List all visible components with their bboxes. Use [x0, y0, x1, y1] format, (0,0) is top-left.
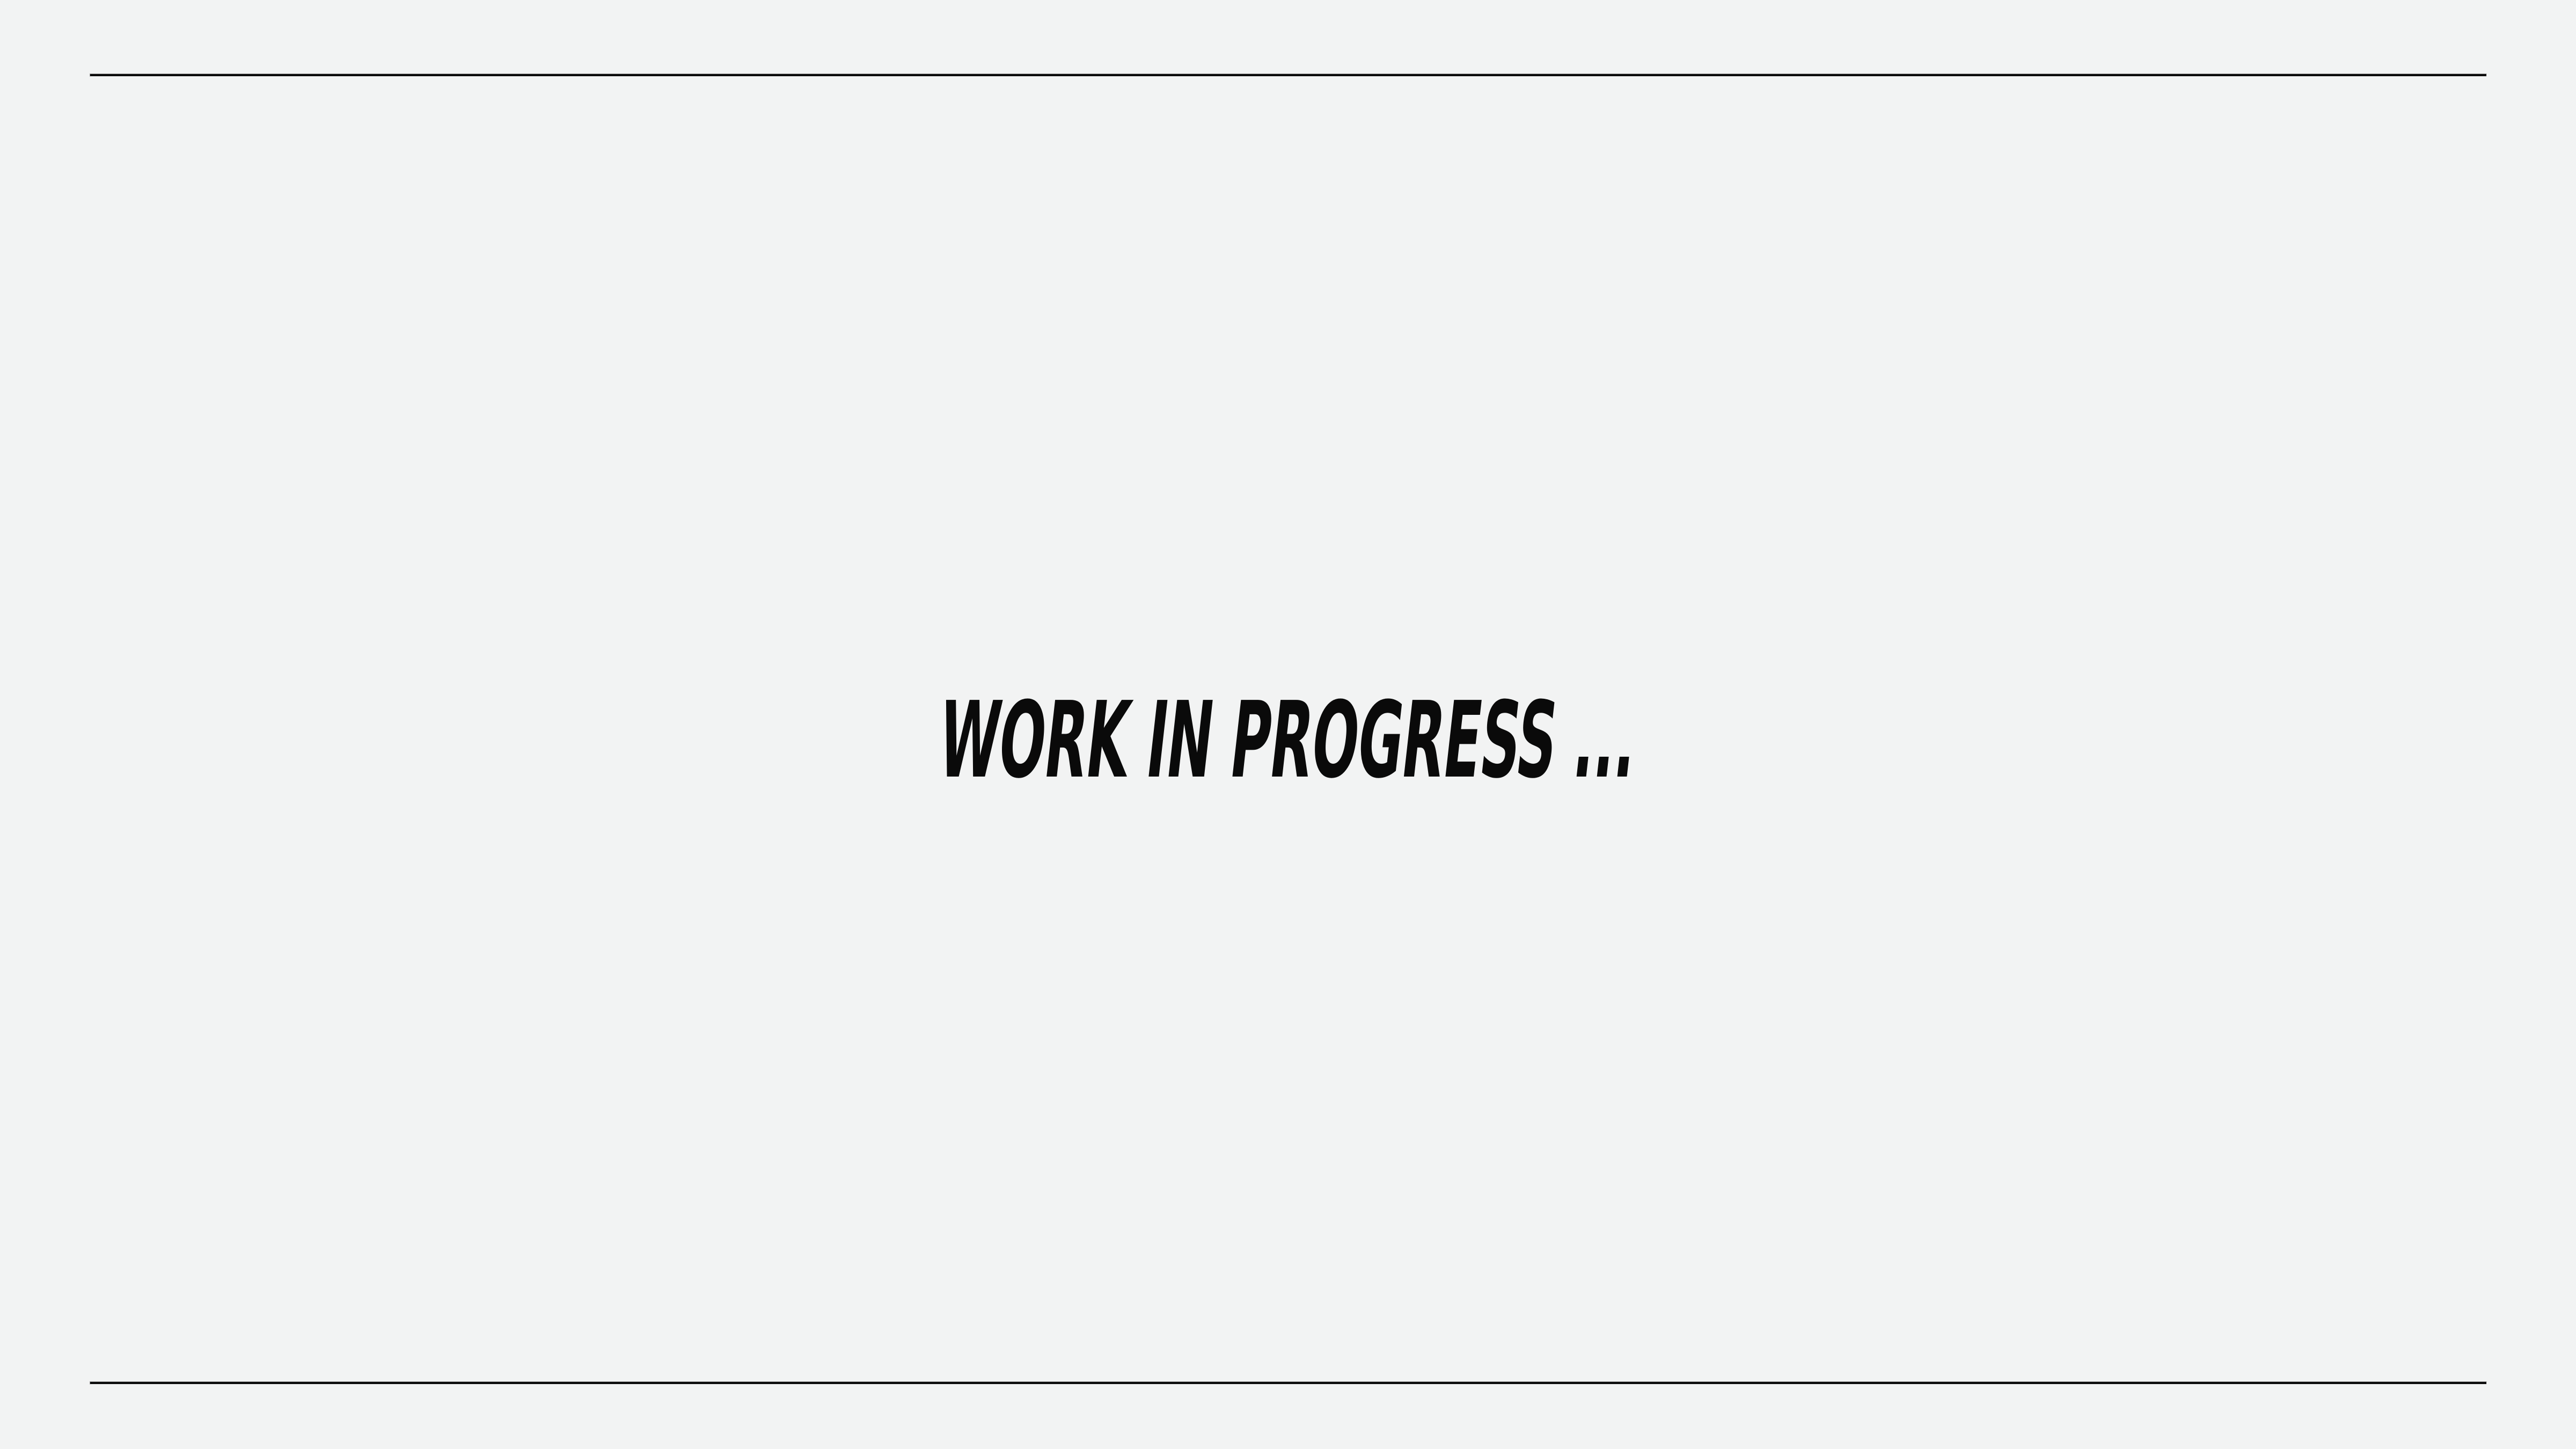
work-in-progress-page: WORK IN PROGRESS ... [0, 0, 2576, 1449]
bottom-divider-rule [90, 1381, 2487, 1385]
top-divider-rule [90, 74, 2487, 77]
headline-block: WORK IN PROGRESS ... [683, 688, 1893, 793]
work-in-progress-headline: WORK IN PROGRESS ... [934, 688, 1642, 793]
headline-container: WORK IN PROGRESS ... [0, 0, 2576, 1449]
